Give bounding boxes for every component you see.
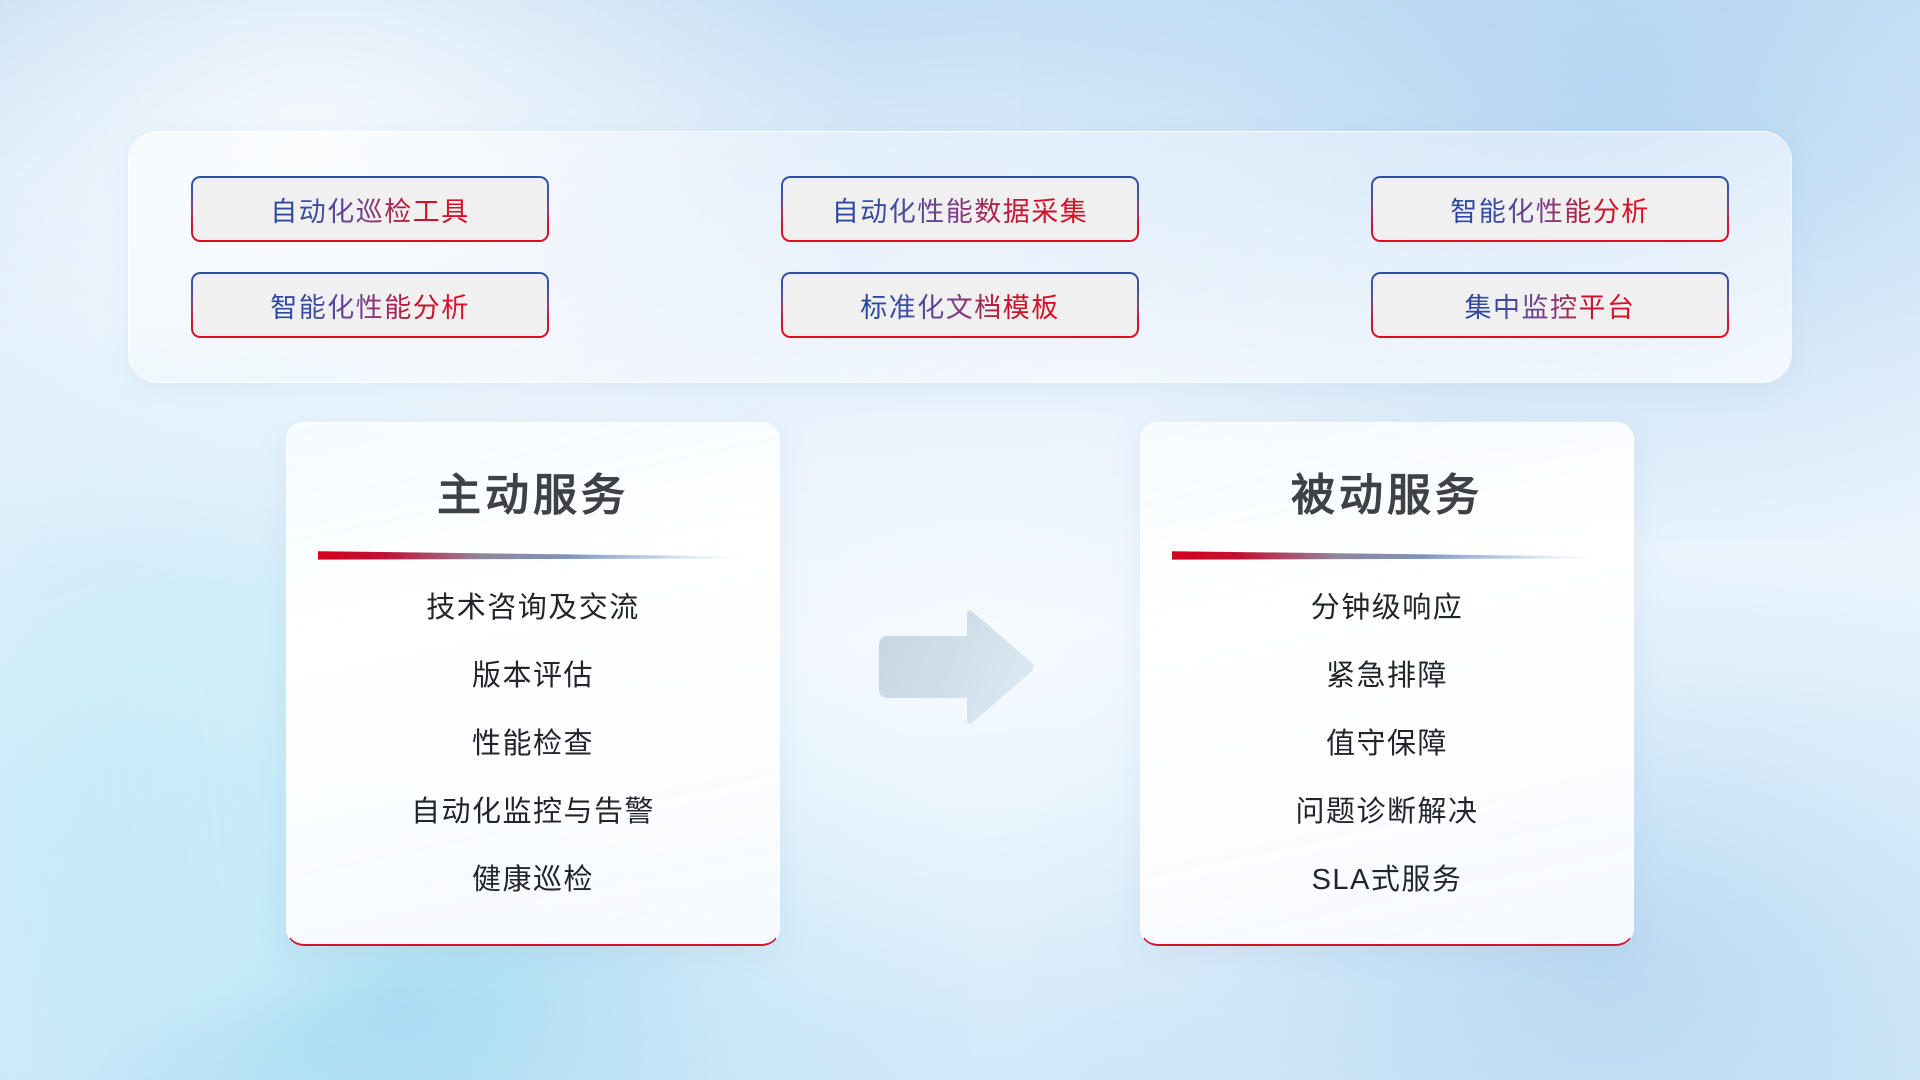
- capability-panel: 自动化巡检工具 自动化性能数据采集 智能化性能分析 智能化性能分析 标准化文档模…: [128, 131, 1792, 383]
- capability-pill-standardized-document-template[interactable]: 标准化文档模板: [781, 272, 1139, 338]
- capability-pill-label: 自动化巡检工具: [270, 190, 470, 229]
- card-item-list: 技术咨询及交流 版本评估 性能检查 自动化监控与告警 健康巡检: [287, 584, 779, 898]
- capability-pill-label: 集中监控平台: [1465, 286, 1636, 325]
- capability-pill-centralized-monitoring-platform[interactable]: 集中监控平台: [1371, 272, 1729, 338]
- slide-background: 自动化巡检工具 自动化性能数据采集 智能化性能分析 智能化性能分析 标准化文档模…: [0, 0, 1920, 1080]
- capability-pill-intelligent-performance-analysis-2[interactable]: 智能化性能分析: [191, 272, 549, 338]
- card-item-list: 分钟级响应 紧急排障 值守保障 问题诊断解决 SLA式服务: [1141, 584, 1633, 898]
- capability-pill-label: 智能化性能分析: [1450, 190, 1650, 229]
- card-title-divider: [318, 549, 748, 562]
- capability-pill-intelligent-performance-analysis-1[interactable]: 智能化性能分析: [1371, 176, 1729, 242]
- card-title-divider: [1172, 549, 1602, 562]
- service-card-reactive: 被动服务 分钟级响应 紧急排障 值守保障 问题诊断解决 SLA式服务: [1140, 422, 1634, 946]
- capability-pill-automated-inspection-tool[interactable]: 自动化巡检工具: [191, 176, 549, 242]
- card-title: 被动服务: [1291, 459, 1483, 523]
- card-item: 技术咨询及交流: [426, 584, 640, 626]
- card-item: 性能检查: [472, 720, 594, 762]
- card-item: 版本评估: [472, 652, 594, 694]
- capability-pill-label: 自动化性能数据采集: [832, 190, 1089, 229]
- arrow-right-icon: [873, 609, 1037, 727]
- card-item: 健康巡检: [472, 856, 594, 898]
- card-item: SLA式服务: [1312, 856, 1463, 898]
- card-title: 主动服务: [437, 459, 629, 523]
- capability-row-2: 智能化性能分析 标准化文档模板 集中监控平台: [191, 272, 1729, 338]
- card-item: 分钟级响应: [1311, 584, 1464, 626]
- capability-pill-label: 标准化文档模板: [860, 286, 1060, 325]
- card-item: 紧急排障: [1326, 652, 1448, 694]
- card-item: 自动化监控与告警: [411, 788, 655, 830]
- capability-pill-automated-performance-data-collection[interactable]: 自动化性能数据采集: [781, 176, 1139, 242]
- capability-pill-label: 智能化性能分析: [270, 286, 470, 325]
- service-card-proactive: 主动服务 技术咨询及交流 版本评估 性能检查 自动化监控与告警 健康巡检: [286, 422, 780, 946]
- capability-row-1: 自动化巡检工具 自动化性能数据采集 智能化性能分析: [191, 176, 1729, 242]
- card-item: 问题诊断解决: [1295, 788, 1478, 830]
- card-item: 值守保障: [1326, 720, 1448, 762]
